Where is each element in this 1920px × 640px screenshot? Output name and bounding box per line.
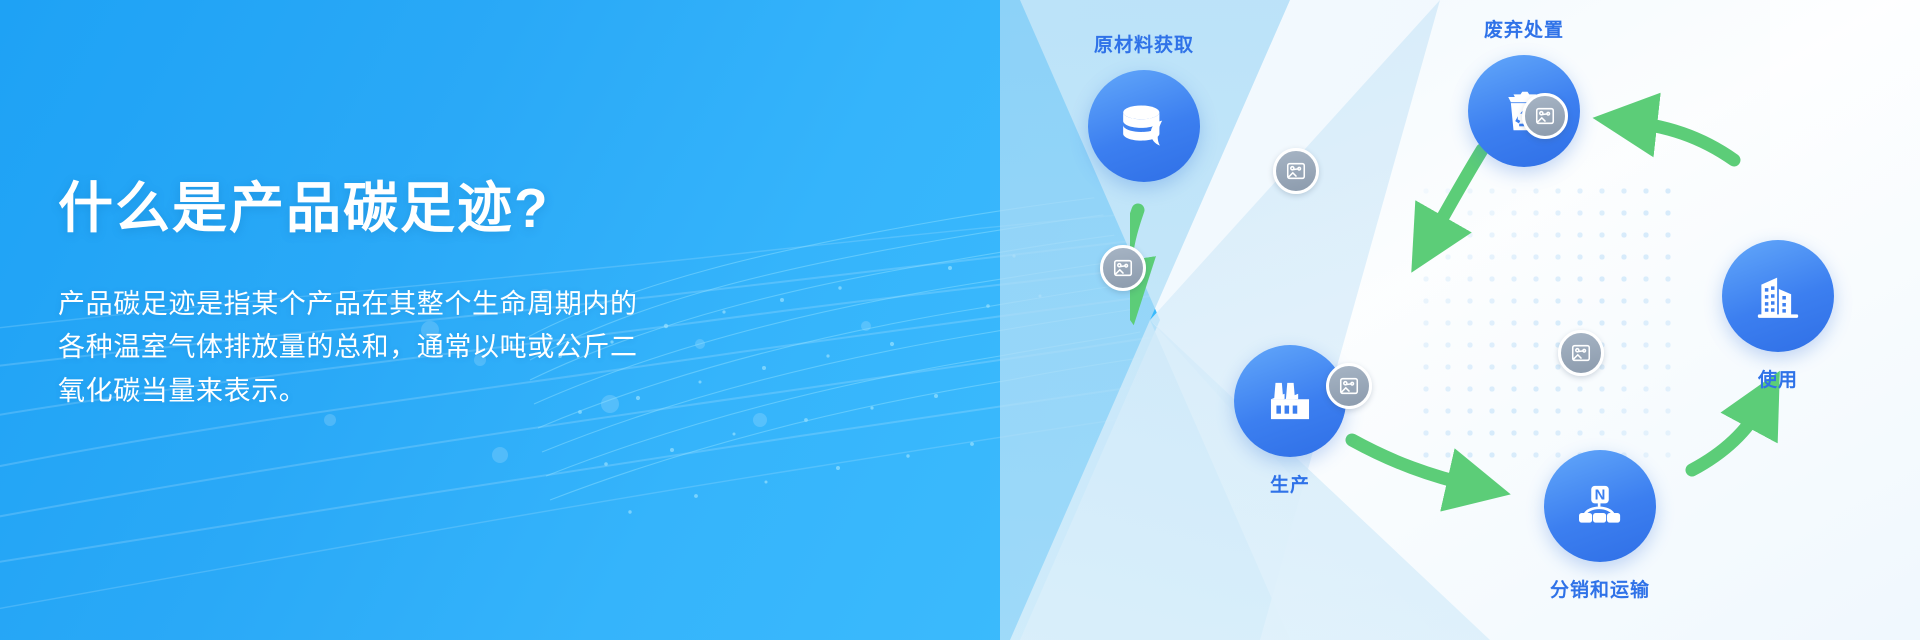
cycle-node-raw-material-label: 原材料获取 <box>1094 30 1194 57</box>
description-line-2: 各种温室气体排放量的总和，通常以吨或公斤二 <box>58 332 638 362</box>
distribution-icon-letter: N <box>1595 487 1606 503</box>
arrow-production-to-distribution <box>1352 440 1474 486</box>
broken-image-icon[interactable] <box>1522 93 1568 139</box>
cycle-node-distribution-label: 分销和运输 <box>1550 575 1650 602</box>
broken-image-icon[interactable] <box>1100 245 1146 291</box>
description-line-1: 产品碳足迹是指某个产品在其整个生命周期内的 <box>58 289 638 319</box>
cycle-node-waste-disposal-label: 废弃处置 <box>1484 15 1564 42</box>
arrow-use-to-waste <box>1630 122 1734 160</box>
carbon-footprint-banner: 什么是产品碳足迹? 产品碳足迹是指某个产品在其整个生命周期内的 各种温室气体排放… <box>0 0 1920 640</box>
cycle-node-waste-disposal[interactable]: 废弃处置 <box>1468 15 1580 167</box>
cycle-node-production[interactable]: 生产 <box>1234 345 1346 497</box>
cycle-node-use-label: 使用 <box>1758 365 1798 392</box>
database-icon <box>1088 70 1200 182</box>
banner-description: 产品碳足迹是指某个产品在其整个生命周期内的 各种温室气体排放量的总和，通常以吨或… <box>58 283 758 414</box>
broken-image-icon[interactable] <box>1558 330 1604 376</box>
buildings-icon <box>1722 240 1834 352</box>
factory-icon <box>1234 345 1346 457</box>
cycle-node-use[interactable]: 使用 <box>1722 240 1834 392</box>
lifecycle-cycle-diagram: 原材料获取 废弃处置 <box>1130 0 1920 640</box>
broken-image-icon[interactable] <box>1273 148 1319 194</box>
arrow-distribution-to-use <box>1692 404 1762 470</box>
cycle-node-production-label: 生产 <box>1270 470 1310 497</box>
banner-copy: 什么是产品碳足迹? 产品碳足迹是指某个产品在其整个生命周期内的 各种温室气体排放… <box>58 178 938 414</box>
distribution-node-icon: N <box>1544 450 1656 562</box>
description-line-3: 氧化碳当量来表示。 <box>58 376 306 406</box>
cycle-node-distribution[interactable]: N 分销和运输 <box>1544 450 1656 602</box>
page-title: 什么是产品碳足迹? <box>58 178 938 239</box>
broken-image-icon[interactable] <box>1326 363 1372 409</box>
cycle-node-raw-material[interactable]: 原材料获取 <box>1088 30 1200 182</box>
